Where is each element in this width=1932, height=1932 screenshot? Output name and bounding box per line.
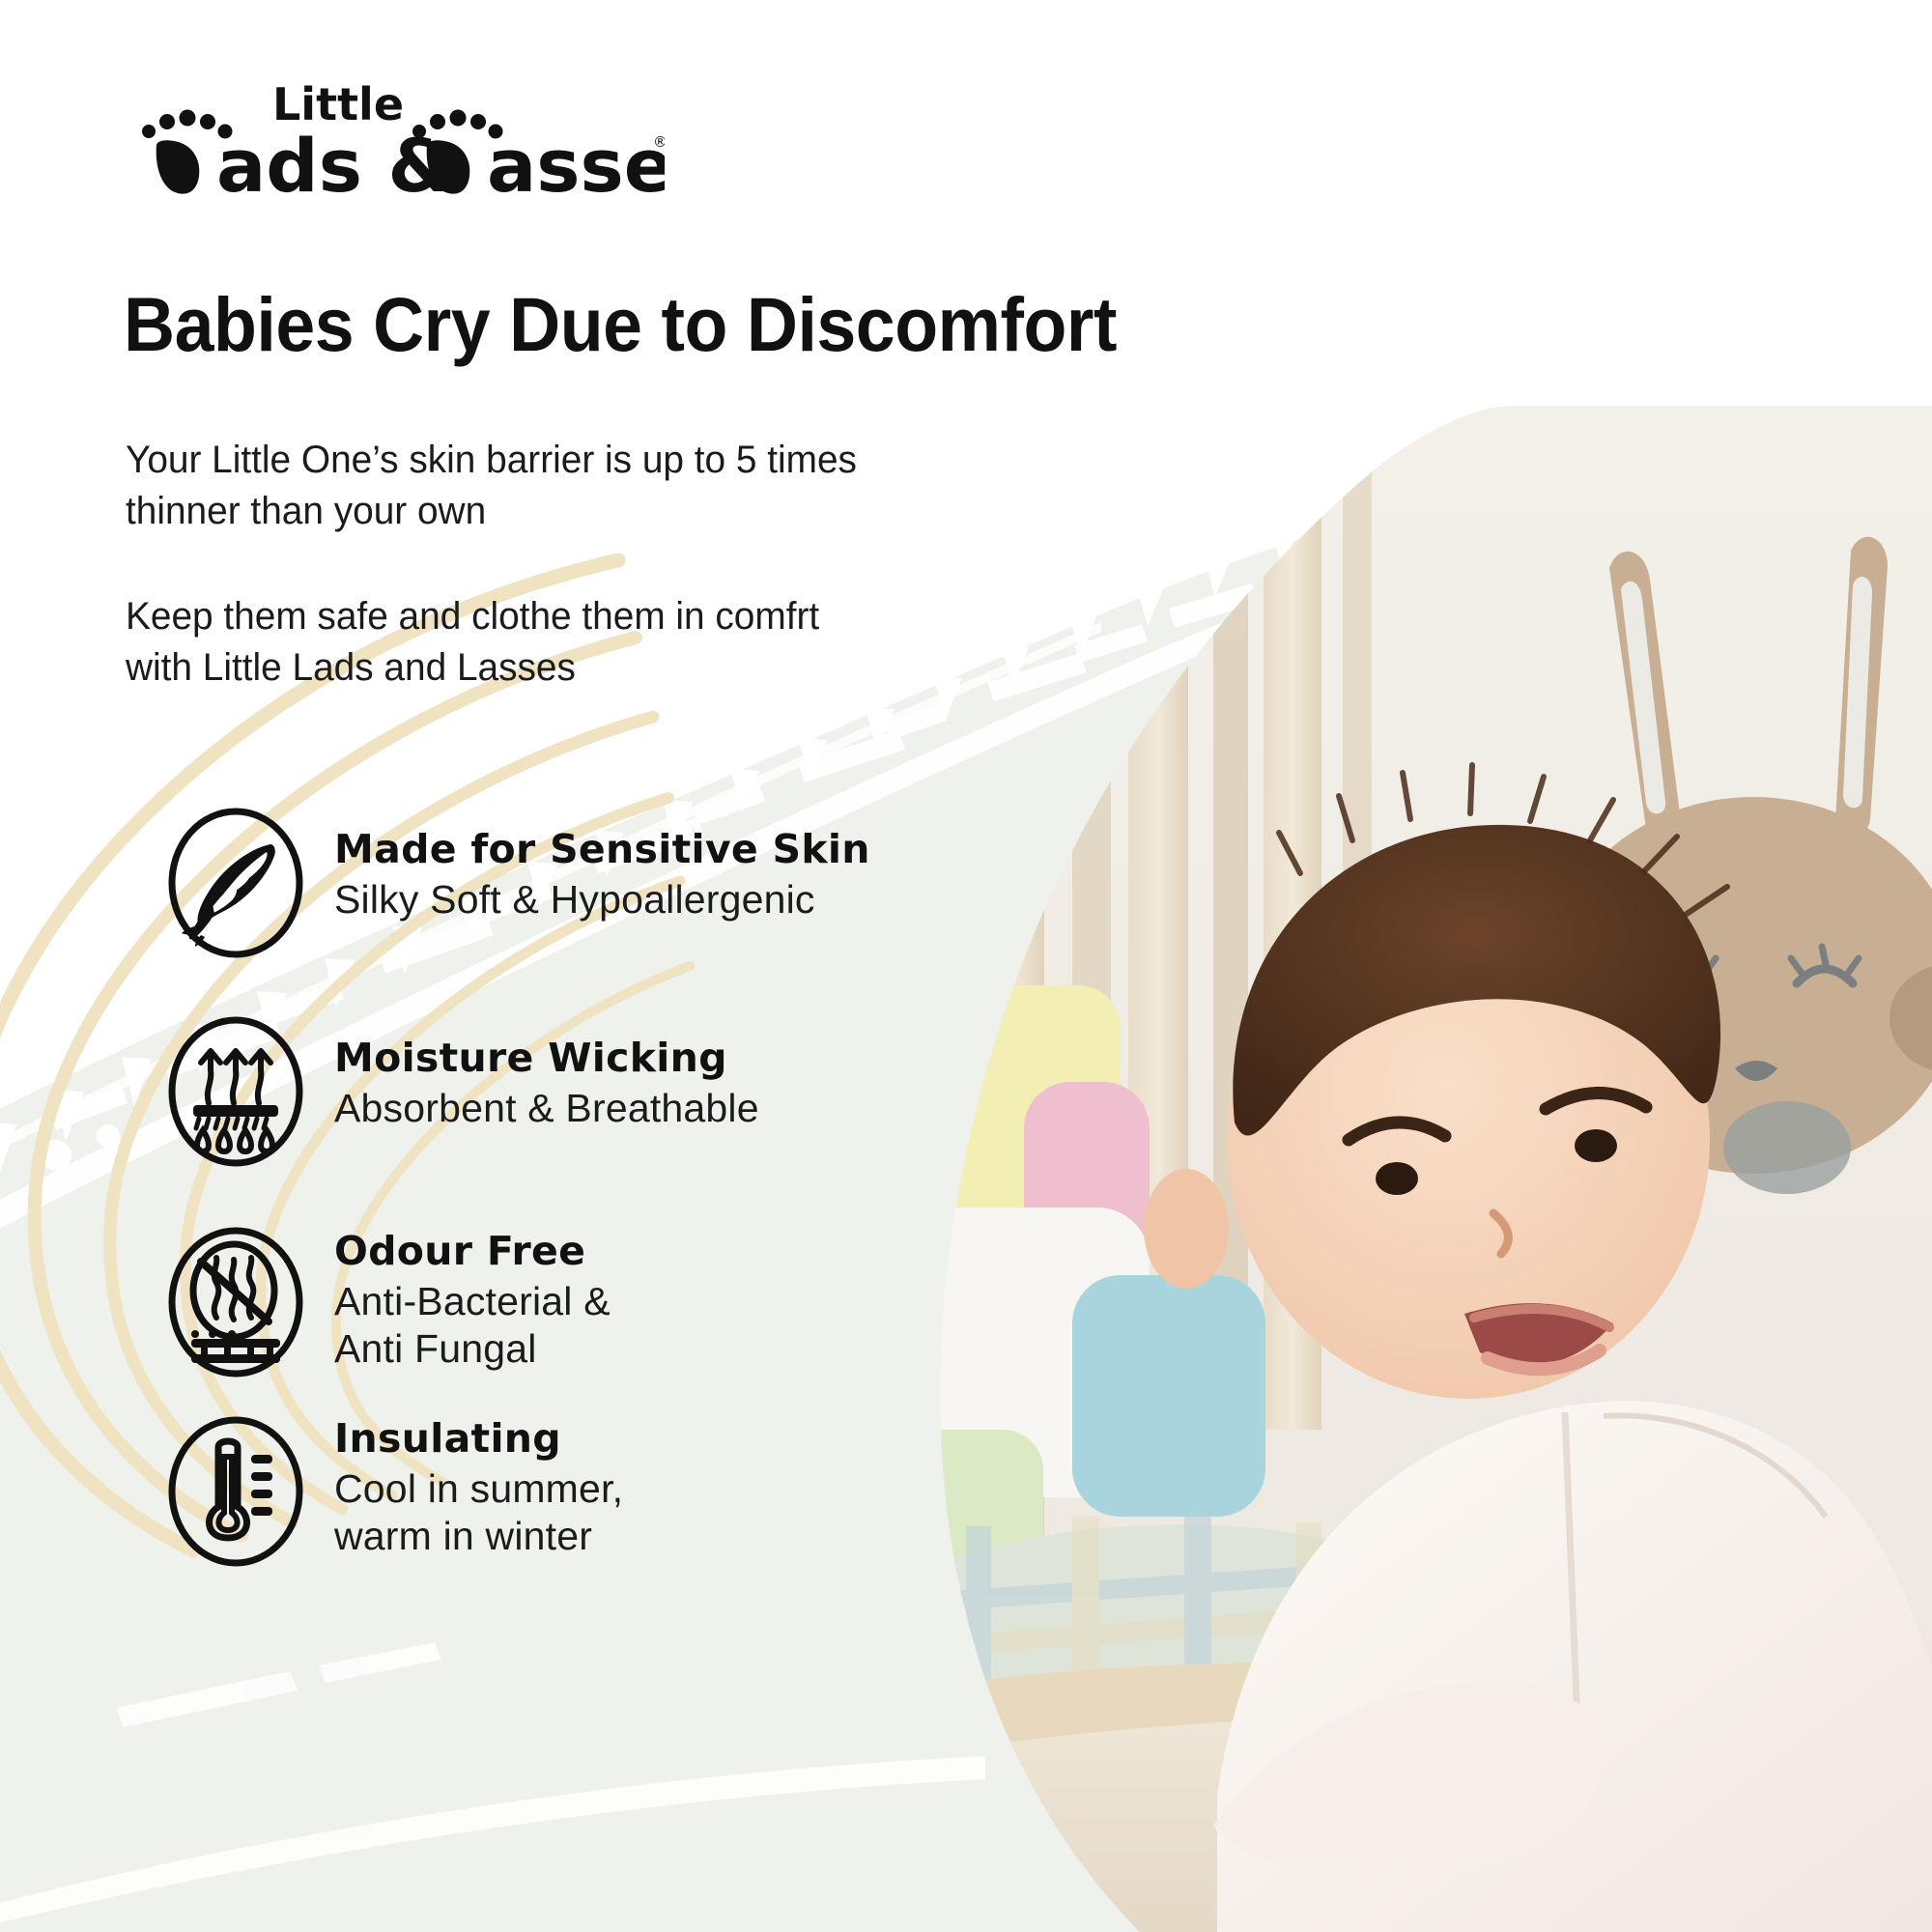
feature-list: Made for Sensitive Skin Silky Soft & Hyp…	[155, 802, 889, 1615]
thermometer-icon	[155, 1410, 317, 1573]
feather-icon	[155, 802, 317, 964]
brand-logo: Little ads & asses ®	[124, 75, 665, 201]
feature-subtitle: Anti-Bacterial & Anti Fungal	[334, 1278, 611, 1373]
poster-canvas: Little ads & asses ® Babies Cry Due to D…	[0, 0, 1932, 1932]
feature-item-insulating: Insulating Cool in summer, warm in winte…	[155, 1410, 889, 1573]
feature-item-sensitive-skin: Made for Sensitive Skin Silky Soft & Hyp…	[155, 802, 889, 964]
page-title: Babies Cry Due to Discomfort	[124, 286, 1117, 362]
feature-title: Insulating	[334, 1416, 623, 1462]
hero-photo	[927, 406, 1932, 1932]
odour-free-icon	[155, 1221, 317, 1383]
lower-brush-streaks	[0, 1642, 1063, 1932]
logo-line2-part2: asses	[487, 123, 665, 201]
feature-title: Moisture Wicking	[334, 1036, 759, 1081]
feature-title: Made for Sensitive Skin	[334, 827, 870, 872]
logo-line2-part1: ads &	[216, 123, 452, 201]
feature-subtitle: Cool in summer, warm in winter	[334, 1465, 623, 1560]
feature-subtitle: Silky Soft & Hypoallergenic	[334, 876, 870, 923]
baby-ear	[1144, 1169, 1229, 1289]
registered-trademark-symbol: ®	[653, 133, 665, 151]
feature-subtitle: Absorbent & Breathable	[334, 1085, 759, 1132]
intro-paragraph-2: Keep them safe and clothe them in comfrt…	[126, 591, 819, 694]
moisture-wicking-icon	[155, 1010, 317, 1173]
feature-item-odour-free: Odour Free Anti-Bacterial & Anti Fungal	[155, 1221, 889, 1383]
feature-title: Odour Free	[334, 1229, 611, 1274]
feature-item-moisture-wicking: Moisture Wicking Absorbent & Breathable	[155, 1010, 889, 1173]
intro-paragraph-1: Your Little One’s skin barrier is up to …	[126, 435, 857, 537]
